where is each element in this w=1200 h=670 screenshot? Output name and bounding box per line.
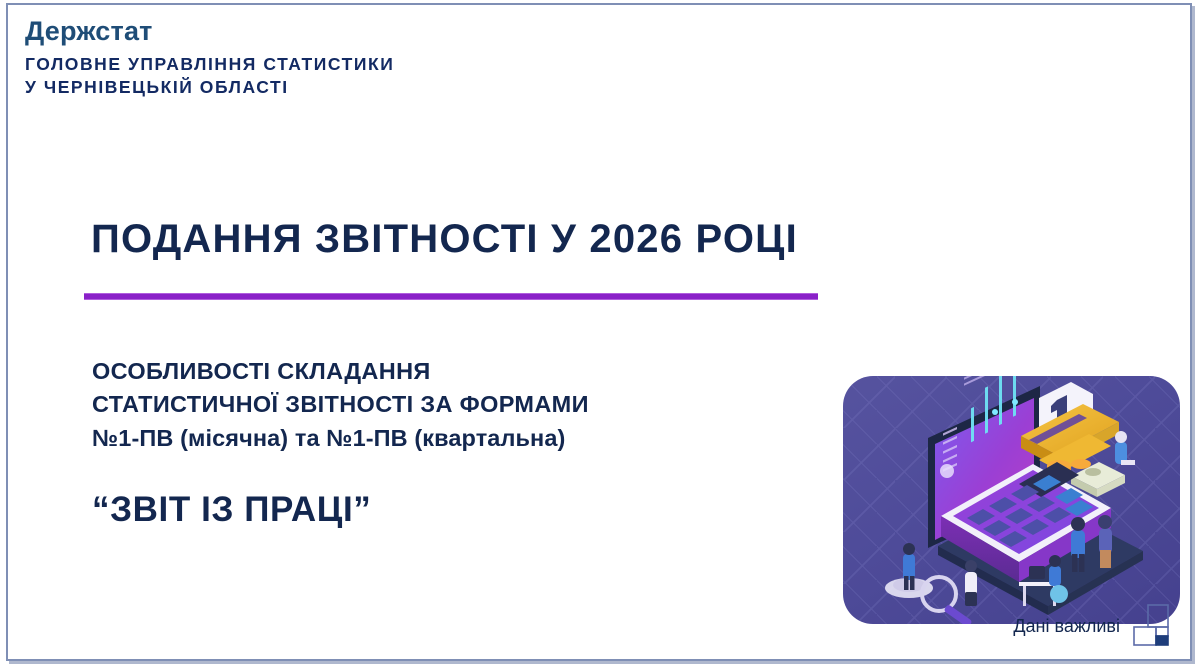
department-line-2: У ЧЕРНІВЕЦЬКІЙ ОБЛАСТІ — [25, 76, 645, 99]
department-line-1: ГОЛОВНЕ УПРАВЛІННЯ СТАТИСТИКИ — [25, 53, 645, 76]
page-title: ПОДАННЯ ЗВІТНОСТІ У 2026 РОЦІ — [91, 217, 798, 262]
department-title: ГОЛОВНЕ УПРАВЛІННЯ СТАТИСТИКИ У ЧЕРНІВЕЦ… — [25, 53, 645, 99]
person-left — [885, 543, 933, 598]
derzhstat-square-logo — [1132, 603, 1176, 649]
subtitle-line-1: ОСОБЛИВОСТІ СКЛАДАННЯ — [92, 355, 589, 388]
quoted-form-title: “ЗВІТ ІЗ ПРАЦІ” — [92, 490, 371, 530]
subtitle-line-3: №1-ПВ (місячна) та №1-ПВ (квартальна) — [92, 422, 589, 455]
analytics-illustration — [843, 376, 1180, 624]
title-divider — [84, 293, 818, 300]
screen-text-lines — [964, 376, 1004, 386]
person-on-money — [1115, 431, 1135, 465]
illustration-graphic — [843, 376, 1180, 624]
person-right-woman — [1098, 515, 1112, 568]
footer: Дані важливі — [1013, 603, 1176, 649]
subtitle-line-2: СТАТИСТИЧНОЇ ЗВІТНОСТІ ЗА ФОРМАМИ — [92, 388, 589, 421]
subtitle-block: ОСОБЛИВОСТІ СКЛАДАННЯ СТАТИСТИЧНОЇ ЗВІТН… — [92, 355, 589, 455]
person-woman-left — [965, 560, 977, 606]
slide: Держстат ГОЛОВНЕ УПРАВЛІННЯ СТАТИСТИКИ У… — [6, 3, 1192, 661]
brand-header: Держстат ГОЛОВНЕ УПРАВЛІННЯ СТАТИСТИКИ У… — [25, 17, 645, 100]
brand-name: Держстат — [25, 17, 645, 45]
footer-tagline: Дані важливі — [1013, 616, 1120, 637]
